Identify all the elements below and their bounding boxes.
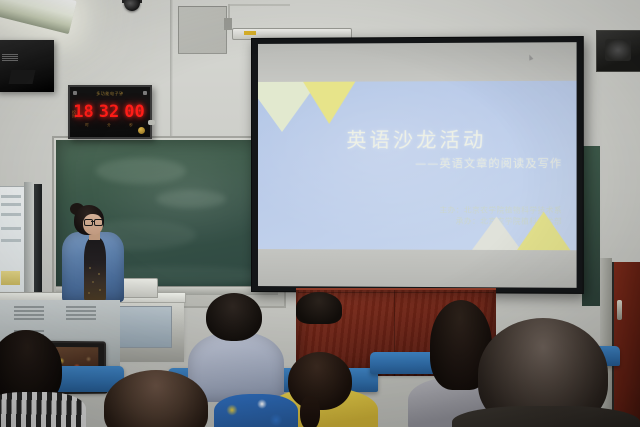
clock-unit-labels: 时 分 秒 [76,122,142,128]
clock-unit-second: 秒 [129,122,132,128]
clock-corner-screw [73,91,77,95]
audience-torso [214,394,298,427]
roller-cable-horizontal [228,4,290,6]
notice-board-edge [24,182,34,302]
audience-head [206,293,262,341]
projection-screen-surface: 英语沙龙活动 ——英语文章的阅读及写作 主办：北京农学院植物科学技术系 承办：北… [258,42,577,288]
clock-corner-screw [143,91,147,95]
clock-minutes: 32 [99,104,119,121]
slide-subtitle: ——英语文章的阅读及写作 [415,155,562,171]
notice-yellow-sticker [1,271,20,285]
projector-letterbox-bottom [258,249,577,288]
clock-seconds: 00 [124,104,144,121]
notice-line [1,239,21,242]
wall-speaker-left-icon [0,40,54,92]
presentation-slide: 英语沙龙活动 ——英语文章的阅读及写作 主办：北京农学院植物科学技术系 承办：北… [258,81,577,251]
audience-torso [452,406,640,427]
presenter-top-pattern [86,262,104,298]
cabinet-vent [66,306,96,320]
clock-unit-hour: 时 [85,122,88,128]
audience-ponytail [300,396,320,427]
cabinet-vent [14,306,44,320]
clock-unit-minute: 分 [107,122,110,128]
audience-head [288,352,352,410]
wall-notice-board [0,186,26,300]
audience-head [296,292,342,324]
wall-speaker-right-icon [596,30,640,72]
chalk-smudge [156,190,226,208]
roller-indicator-light [244,31,256,35]
slide-title: 英语沙龙活动 [258,123,577,153]
notice-line [1,203,21,206]
glasses-icon [84,219,103,224]
led-wall-clock[interactable]: 多功能电子钟 校时 18 32 00 时 分 秒 [68,85,152,139]
projector-letterbox-top [258,42,577,82]
chalk-smudge [96,158,186,184]
projection-screen[interactable]: 英语沙龙活动 ——英语文章的阅读及写作 主办：北京农学院植物科学技术系 承办：北… [251,36,584,294]
door-handle[interactable] [617,300,622,320]
notice-line [1,213,21,216]
clock-digit-group: 18 32 00 [75,103,143,121]
clock-set-button[interactable] [138,127,145,134]
decor-triangle-yellow-bottom [517,212,570,251]
notice-line [1,195,21,198]
wooden-door[interactable] [612,262,640,427]
decor-triangle-pale-bottom [472,217,521,251]
roller-bracket [224,18,232,30]
glasses-bridge [91,221,94,222]
speaker-bracket [9,70,36,84]
clock-wall-mount [148,120,155,125]
audience-torso [0,392,86,427]
wall-access-panel [178,6,227,54]
classroom-photo-scene: 多功能电子钟 校时 18 32 00 时 分 秒 [0,0,640,427]
clock-header-label: 多功能电子钟 [96,91,124,97]
clock-hours: 18 [73,104,93,121]
wall-dark-panel [34,184,42,304]
notice-line [1,227,21,230]
clock-header: 多功能电子钟 [70,87,150,100]
decor-triangle-yellow-top [303,82,355,124]
